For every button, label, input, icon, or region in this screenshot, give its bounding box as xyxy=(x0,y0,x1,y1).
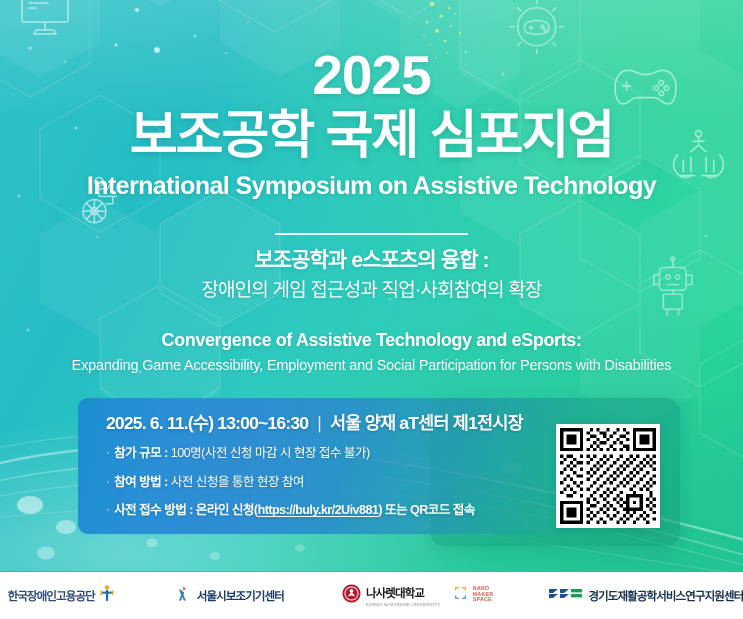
theme-english-line-1: Convergence of Assistive Technology and … xyxy=(0,330,743,351)
event-detail-list: ·참가 규모 : 100명(사전 신청 마감 시 현장 접수 불가) ·참여 방… xyxy=(106,447,475,533)
registration-link[interactable]: https://buly.kr/2Uiv881 xyxy=(258,503,379,517)
logo-naro-maker-space: NARO MAKER SPACE xyxy=(454,572,494,619)
poster-title-ko: 보조공학 국제 심포지엄 xyxy=(0,109,743,164)
logo-nazarene-label: 나사렛대학교 xyxy=(366,585,442,601)
bullet-label: 참가 규모 : xyxy=(114,446,168,460)
bullet-value: 사전 신청을 통한 현장 참여 xyxy=(171,475,304,489)
poster-year: 2025 xyxy=(0,48,743,103)
list-item: ·사전 접수 방법 : 온라인 신청(https://buly.kr/2Uiv8… xyxy=(106,504,475,517)
logo-seoul-at-center-label: 서울시보조기기센터 xyxy=(197,588,284,604)
title-divider xyxy=(275,233,468,235)
bullet-marker: · xyxy=(106,448,109,459)
bullet-label: 사전 접수 방법 : xyxy=(114,503,193,517)
monitor-icon xyxy=(22,0,68,34)
logo-naro-line-3: SPACE xyxy=(473,598,494,604)
logo-seoul-at-center: 서울시보조기기센터 xyxy=(175,572,284,619)
bullet-value-suffix: ) 또는 QR코드 접속 xyxy=(378,503,475,517)
poster: 2025 보조공학 국제 심포지엄 International Symposiu… xyxy=(0,0,743,619)
bullet-marker: · xyxy=(106,477,109,488)
event-datetime: 2025. 6. 11.(수) 13:00~16:30 xyxy=(106,413,308,433)
list-item: ·참가 규모 : 100명(사전 신청 마감 시 현장 접수 불가) xyxy=(106,447,475,460)
theme-korean-line-2: 장애인의 게임 접근성과 직업·사회참여의 확장 xyxy=(0,279,743,303)
list-item: ·참여 방법 : 사전 신청을 통한 현장 참여 xyxy=(106,476,475,489)
gear-controller-icon xyxy=(510,0,563,53)
theme-block: 보조공학과 e스포츠의 융합 : 장애인의 게임 접근성과 직업·사회참여의 확… xyxy=(0,248,743,374)
kead-symbol-icon xyxy=(99,585,115,607)
naro-maker-space-mark-icon xyxy=(454,585,468,606)
theme-korean-line-1: 보조공학과 e스포츠의 융합 : xyxy=(0,248,743,274)
logo-korea-nazarene-university: 나사렛대학교 KOREA NAZARENE UNIVERSITY xyxy=(342,572,442,619)
poster-title-en: International Symposium on Assistive Tec… xyxy=(0,172,743,201)
logo-gyeonggi-rehab-center: 경기도재활공학서비스연구지원센터 xyxy=(549,572,743,619)
datetime-venue-separator: | xyxy=(317,413,321,434)
logo-kead: 한국장애인고용공단 xyxy=(8,572,115,619)
event-venue: 서울 양재 aT센터 제1전시장 xyxy=(330,413,523,433)
logo-nazarene-sublabel: KOREA NAZARENE UNIVERSITY xyxy=(366,602,440,607)
logo-gyeonggi-label: 경기도재활공학서비스연구지원센터 xyxy=(588,588,743,604)
bullet-marker: · xyxy=(106,505,109,516)
qr-code[interactable] xyxy=(556,424,660,528)
theme-english-line-2: Expanding Game Accessibility, Employment… xyxy=(0,358,743,374)
seoul-at-center-symbol-icon xyxy=(175,585,192,607)
bullet-value: 100명(사전 신청 마감 시 현장 접수 불가) xyxy=(171,446,370,460)
sponsor-footer: 한국장애인고용공단 서울시보조기기센터 xyxy=(0,572,743,619)
logo-kead-label: 한국장애인고용공단 xyxy=(8,588,95,604)
event-datetime-venue: 2025. 6. 11.(수) 13:00~16:30|서울 양재 aT센터 제… xyxy=(106,410,523,435)
bullet-value-prefix: 온라인 신청( xyxy=(196,503,258,517)
headline-block: 2025 보조공학 국제 심포지엄 International Symposiu… xyxy=(0,48,743,201)
gyeonggi-chevrons-icon xyxy=(549,586,583,605)
bullet-label: 참여 방법 : xyxy=(114,475,168,489)
nazarene-crest-icon xyxy=(342,584,361,608)
